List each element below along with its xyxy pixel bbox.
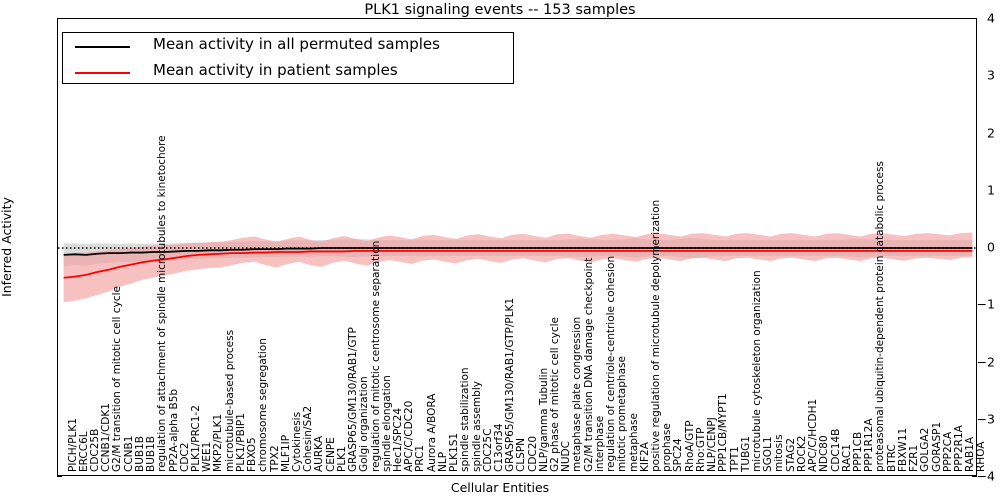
x-tick-label: spindle elongation [381, 375, 393, 472]
x-tick-label: PPP2CA [942, 432, 954, 472]
x-tick-label: GOLGA2 [919, 428, 931, 472]
x-tick-label: BTRC [886, 444, 898, 472]
x-tick-label: regulation of mitotic centrosome separat… [370, 241, 382, 472]
chart-root: PLK1 signaling events -- 153 samples Inf… [0, 0, 1000, 500]
x-tick-label: mitosis [773, 434, 785, 472]
x-tick-label: TPT1 [729, 446, 741, 472]
x-tick-label: RhoA/GTP [684, 420, 696, 472]
x-tick-label: CDC2 [179, 443, 191, 472]
legend-line-patient [75, 72, 130, 74]
legend-label-permuted: Mean activity in all permuted samples [153, 35, 440, 53]
y-axis-label: Inferred Activity [0, 197, 14, 297]
x-tick-label: mitotic prometaphase [616, 356, 628, 472]
x-tick-label: CENPE [325, 437, 337, 472]
x-tick-label: RHOA [975, 442, 987, 472]
x-tick-label: TUBG1 [740, 436, 752, 472]
x-tick-label: spindle assembly [471, 381, 483, 472]
x-tick-label: microtubule-based process [224, 330, 236, 472]
chart-legend: Mean activity in all permuted samples Me… [62, 32, 514, 84]
x-tick-label: RAC1 [841, 444, 853, 472]
x-tick-label: G2/M transition DNA damage checkpoint [583, 258, 595, 472]
x-tick-label: CDC14B [830, 429, 842, 472]
x-tick-label: Golgi organization [358, 376, 370, 472]
legend-line-permuted [75, 46, 130, 48]
x-tick-label: metaphase plate congression [571, 317, 583, 472]
legend-label-patient: Mean activity in patient samples [153, 61, 398, 79]
x-tick-label: chromosome segregation [257, 338, 269, 472]
x-tick-label: GORASP1 [931, 422, 943, 472]
x-tick-label: PRC1 [414, 445, 426, 472]
x-tick-label: SPC24 [672, 438, 684, 472]
x-tick-label: PICH/PLK1 [67, 418, 79, 472]
x-tick-label: proteasomal ubiquitin-dependent protein … [874, 161, 886, 472]
x-tick-label: KIF2A [639, 442, 651, 472]
x-tick-label: G2/M transition of mitotic cell cycle [111, 286, 123, 472]
x-tick-label: CCNB1 [123, 436, 135, 472]
x-tick-label: Aurora A/BORA [426, 394, 438, 473]
x-tick-label: MLF1IP [280, 435, 292, 472]
x-tick-label: regulation of attachment of spindle micr… [156, 135, 168, 472]
x-tick-label: NDC80 [818, 435, 830, 472]
legend-entry-permuted: Mean activity in all permuted samples [63, 33, 513, 59]
x-tick-label: STAG2 [785, 438, 797, 472]
x-tick-label: TPX2 [269, 445, 281, 472]
legend-entry-patient: Mean activity in patient samples [63, 59, 513, 85]
x-tick-label: metaphase [628, 413, 640, 472]
x-tick-label: AURKA [313, 436, 325, 472]
x-tick-label: PPP1CB/MYPT1 [717, 393, 729, 472]
x-tick-label: CDC25C [482, 429, 494, 472]
x-tick-label: MKP2/PLK1 [212, 414, 224, 472]
x-tick-label: CDC20 [527, 436, 539, 472]
x-tick-label: CLSPN [515, 438, 527, 472]
x-tick-label: PP2A-alpha B5b [168, 389, 180, 472]
x-tick-label: spindle stabilization [459, 367, 471, 472]
